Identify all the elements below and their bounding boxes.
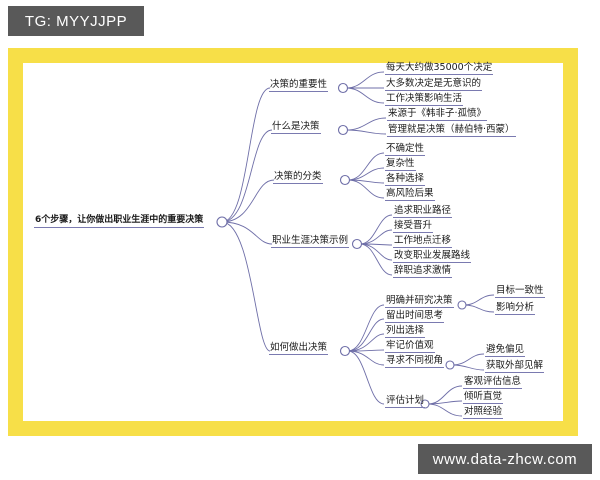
leaf-node-complexity[interactable]: 复杂性 [385,159,416,171]
leaf-node-list-options[interactable]: 列出选择 [385,326,425,338]
leaf-node-35000-decisions[interactable]: 每天大约做35000个决定 [385,63,493,75]
leaf-node-remember-values[interactable]: 牢记价值观 [385,341,435,353]
leaf-node-listen-to-intuition[interactable]: 倾听直觉 [463,392,503,404]
leaf-node-objective-assessment[interactable]: 客观评估信息 [463,377,522,389]
leaf-node-outside-view[interactable]: 获取外部见解 [485,361,544,373]
leaf-node-high-risk-consequence[interactable]: 高风险后果 [385,189,435,201]
mindmap-canvas: 6个步骤，让你做出职业生涯中的重要决策 决策的重要性 什么是决策 决策的分类 职… [0,0,600,480]
branch-node-classification[interactable]: 决策的分类 [273,172,323,184]
leaf-node-take-time-to-think[interactable]: 留出时间思考 [385,311,444,323]
leaf-node-accept-promotion[interactable]: 接受晋升 [393,221,433,233]
branch-node-importance[interactable]: 决策的重要性 [269,80,328,92]
leaf-node-various-choices[interactable]: 各种选择 [385,174,425,186]
node-evaluate-plan[interactable]: 评估计划 [385,396,425,408]
leaf-node-uncertainty[interactable]: 不确定性 [385,144,425,156]
leaf-node-pursue-career-path[interactable]: 追求职业路径 [393,206,452,218]
leaf-node-management-is-decision[interactable]: 管理就是决策（赫伯特·西蒙） [387,125,516,137]
branch-node-career-examples[interactable]: 职业生涯决策示例 [271,236,349,248]
branch-node-how-to-decide[interactable]: 如何做出决策 [269,343,328,355]
site-watermark-badge: www.data-zhcw.com [418,444,592,474]
node-identify-and-research[interactable]: 明确并研究决策 [385,296,454,308]
leaf-node-avoid-bias[interactable]: 避免偏见 [485,345,525,357]
leaf-node-goal-alignment[interactable]: 目标一致性 [495,286,545,298]
leaf-node-work-affects-life[interactable]: 工作决策影响生活 [385,94,463,106]
leaf-node-impact-analysis[interactable]: 影响分析 [495,303,535,315]
branch-node-what-is-decision[interactable]: 什么是决策 [271,122,321,134]
leaf-node-change-career-route[interactable]: 改变职业发展路线 [393,251,471,263]
leaf-node-quit-for-passion[interactable]: 辞职追求激情 [393,266,452,278]
tg-watermark-badge: TG: MYYJJPP [8,6,144,36]
mindmap-root-node[interactable]: 6个步骤，让你做出职业生涯中的重要决策 [34,216,204,228]
leaf-node-compare-experience[interactable]: 对照经验 [463,407,503,419]
leaf-node-relocate-workplace[interactable]: 工作地点迁移 [393,236,452,248]
leaf-node-unconscious-decisions[interactable]: 大多数决定是无意识的 [385,79,482,91]
leaf-node-hanfeizi-origin[interactable]: 来源于《韩非子·孤愤》 [387,109,487,121]
node-seek-perspectives[interactable]: 寻求不同视角 [385,356,444,368]
